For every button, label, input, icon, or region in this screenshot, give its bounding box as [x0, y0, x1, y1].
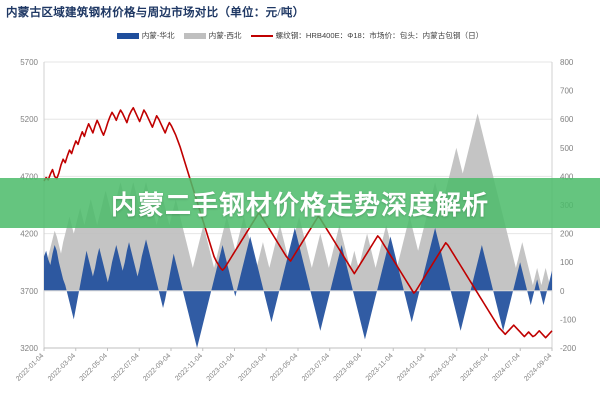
x-axis-tick-label: 2024-03-04	[428, 352, 458, 382]
y-axis-tick-label: 3700	[20, 287, 38, 296]
overlay-banner-text: 内蒙二手钢材价格走势深度解析	[111, 185, 489, 222]
x-axis-tick-label: 2023-11-04	[365, 352, 395, 382]
chart-container: 内蒙古区域建筑钢材价格与周边市场对比（单位：元/吨） 内蒙-华北 内蒙-西北 螺…	[0, 0, 600, 400]
y2-axis-tick-label: 700	[560, 87, 574, 96]
y2-axis-tick-label: 0	[560, 287, 565, 296]
x-axis-tick-label: 2022-01-04	[15, 352, 45, 382]
y-axis-tick-label: 4200	[20, 230, 38, 239]
overlay-banner: 内蒙二手钢材价格走势深度解析	[0, 178, 600, 228]
y-axis-tick-label: 5700	[20, 58, 38, 67]
x-axis-tick-label: 2024-09-04	[523, 352, 553, 382]
y2-axis-tick-label: 100	[560, 258, 574, 267]
x-axis-tick-label: 2022-07-04	[110, 352, 140, 382]
x-axis-tick-label: 2024-01-04	[396, 352, 426, 382]
y2-axis-tick-label: -200	[560, 344, 577, 353]
y2-axis-tick-label: -100	[560, 315, 577, 324]
y2-axis-tick-label: 600	[560, 115, 574, 124]
y2-axis-tick-label: 800	[560, 58, 574, 67]
y-axis-tick-label: 5200	[20, 115, 38, 124]
x-axis-tick-label: 2022-05-04	[79, 352, 109, 382]
x-axis-tick-label: 2023-01-04	[206, 352, 236, 382]
x-axis-tick-label: 2024-07-04	[491, 352, 521, 382]
x-axis-tick-label: 2023-09-04	[333, 352, 363, 382]
x-axis-tick-label: 2023-07-04	[301, 352, 331, 382]
x-axis-tick-label: 2023-03-04	[237, 352, 267, 382]
x-axis-tick-label: 2023-05-04	[269, 352, 299, 382]
y-axis-tick-label: 3200	[20, 344, 38, 353]
x-axis-tick-label: 2022-03-04	[47, 352, 77, 382]
y2-axis-tick-label: 500	[560, 144, 574, 153]
x-axis-tick-label: 2022-11-04	[174, 352, 204, 382]
x-axis-tick-label: 2024-05-04	[460, 352, 490, 382]
y2-axis-tick-label: 200	[560, 230, 574, 239]
x-axis-tick-label: 2022-09-04	[142, 352, 172, 382]
